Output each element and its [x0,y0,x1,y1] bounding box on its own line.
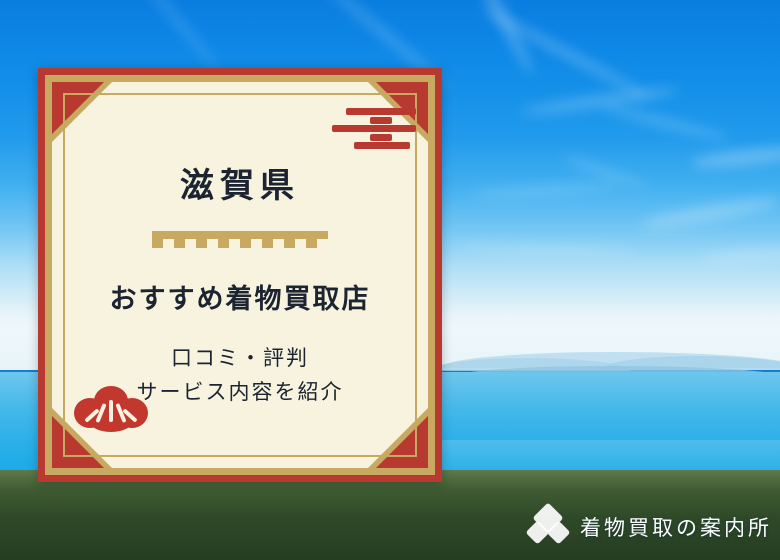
cloud-wisp-icon [138,0,221,73]
cloud-wisp-icon [463,0,538,77]
card-headline: おすすめ着物買取店 [110,284,371,316]
diamond-stack-icon [527,505,571,549]
card-paper: 滋賀県 おすすめ着物買取店 口コミ・評判 サービス内容を紹介 [52,82,428,468]
cloud-wisp-icon [520,84,680,118]
card-content: 滋賀県 おすすめ着物買取店 口コミ・評判 サービス内容を紹介 [78,106,402,444]
cloud-wisp-icon [700,246,780,264]
cloud-wisp-icon [690,144,780,170]
cloud-wisp-icon [640,193,780,233]
card-subtitle: 口コミ・評判 サービス内容を紹介 [137,341,344,410]
checker-divider [152,231,328,248]
cloud-wisp-icon [479,4,651,101]
card-subtitle-line1: 口コミ・評判 [137,341,344,376]
cloud-wisp-icon [601,102,729,142]
title-card: 滋賀県 おすすめ着物買取店 口コミ・評判 サービス内容を紹介 [38,68,442,482]
brand-name-label: 着物買取の案内所 [580,512,772,542]
brand-watermark[interactable]: 着物買取の案内所 [527,503,772,551]
card-subtitle-line2: サービス内容を紹介 [137,375,344,410]
cloud-wisp-icon [470,181,620,199]
banner-canvas: 着物買取の案内所 [0,0,780,560]
card-gold-frame: 滋賀県 おすすめ着物買取店 口コミ・評判 サービス内容を紹介 [45,75,435,475]
cloud-wisp-icon [455,242,635,257]
prefecture-title: 滋賀県 [180,168,300,205]
